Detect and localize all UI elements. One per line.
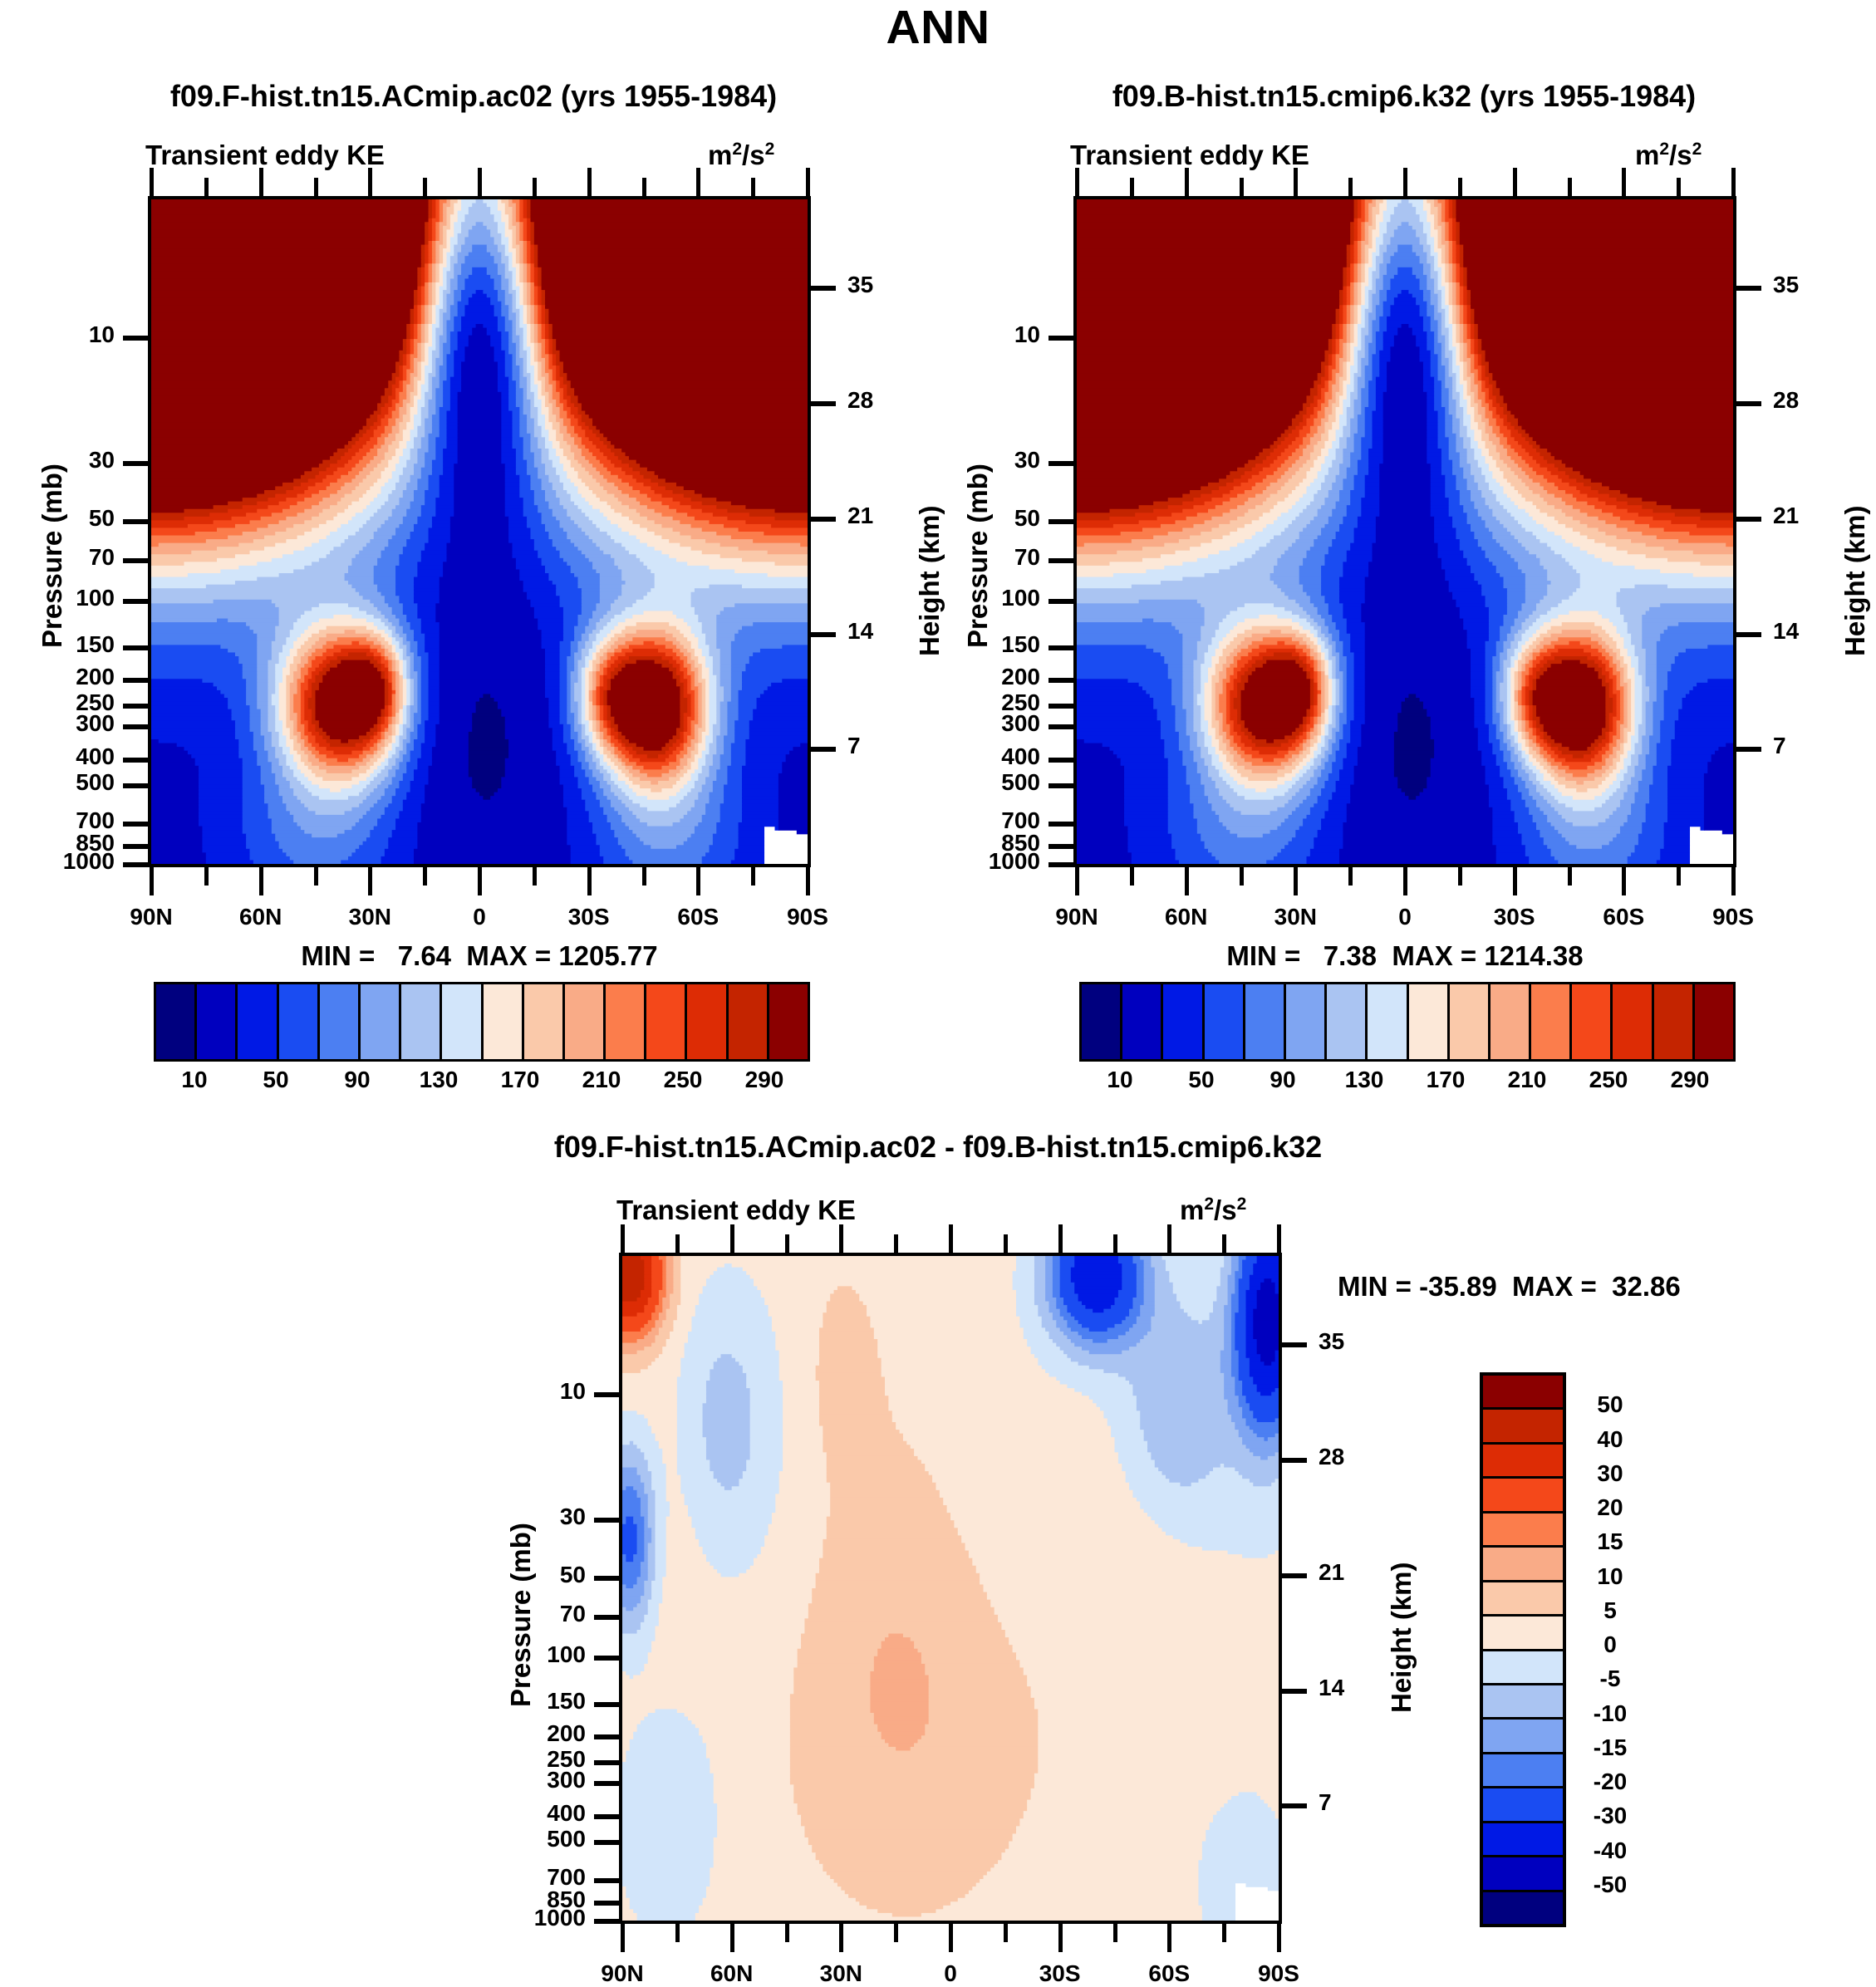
left-panel-title: f09.F-hist.tn15.ACmip.ac02 (yrs 1955-198… — [17, 79, 931, 114]
right-panel-units-label: m2/s2 — [1635, 140, 1702, 171]
y-axis-tick-label: 500 — [1001, 769, 1040, 796]
colorbar-cell — [1483, 1823, 1563, 1857]
colorbar-cell — [1082, 984, 1122, 1059]
right-panel-colorbar[interactable] — [1079, 982, 1736, 1062]
axis-tick — [1222, 1234, 1226, 1253]
axis-tick — [314, 867, 318, 886]
diff-panel-units-label: m2/s2 — [1180, 1195, 1246, 1226]
diff-panel-y2label: Height (km) — [1386, 1563, 1417, 1714]
colorbar-cell — [565, 984, 606, 1059]
units-base: m — [1180, 1195, 1204, 1225]
axis-tick — [1130, 867, 1134, 886]
axis-tick — [1048, 519, 1073, 524]
x-axis-tick-label: 30S — [1465, 904, 1564, 930]
y2-axis-tick-label: 7 — [1319, 1789, 1332, 1816]
axis-tick — [368, 168, 372, 196]
axis-tick — [1075, 867, 1079, 895]
axis-tick — [1048, 704, 1073, 709]
y-axis-tick-label: 150 — [547, 1688, 586, 1715]
axis-tick — [478, 867, 482, 895]
colorbar-cell — [606, 984, 646, 1059]
axis-tick — [123, 844, 148, 849]
colorbar-tick-label: 50 — [243, 1067, 309, 1093]
axis-tick — [1113, 1924, 1117, 1942]
right-panel-plot[interactable] — [1073, 196, 1736, 867]
y2-axis-tick-label: 21 — [1319, 1559, 1344, 1586]
axis-tick — [811, 401, 836, 406]
x-axis-tick-label: 0 — [901, 1960, 1000, 1987]
left-panel-y2label: Height (km) — [914, 506, 945, 657]
colorbar-cell — [1531, 984, 1572, 1059]
axis-tick — [533, 178, 537, 196]
colorbar-cell — [279, 984, 320, 1059]
axis-tick — [123, 678, 148, 683]
colorbar-cell — [197, 984, 238, 1059]
axis-tick — [675, 1234, 680, 1253]
axis-tick — [533, 867, 537, 886]
colorbar-tick-label: 210 — [568, 1067, 635, 1093]
axis-tick — [785, 1924, 789, 1942]
colorbar-cell — [1483, 1685, 1563, 1720]
colorbar-cell — [401, 984, 442, 1059]
axis-tick — [1513, 867, 1517, 895]
colorbar-tick-label: 90 — [1250, 1067, 1316, 1093]
x-axis-tick-label: 90S — [1683, 904, 1783, 930]
units-sup-1: 2 — [1659, 140, 1669, 159]
axis-tick — [949, 1924, 953, 1952]
colorbar-cell — [729, 984, 769, 1059]
colorbar-cell — [1695, 984, 1733, 1059]
axis-tick — [1113, 1234, 1117, 1253]
colorbar-tick-label: 40 — [1573, 1426, 1648, 1453]
x-axis-tick-label: 30N — [791, 1960, 891, 1987]
y-axis-tick-label: 100 — [1001, 585, 1040, 611]
colorbar-tick-label: 250 — [650, 1067, 716, 1093]
x-axis-tick-label: 30N — [1245, 904, 1345, 930]
diff-panel-ylabel: Pressure (mb) — [505, 1523, 537, 1707]
axis-tick — [1167, 1224, 1171, 1253]
units-sup-2: 2 — [765, 140, 775, 159]
x-axis-tick-label: 60S — [1574, 904, 1673, 930]
x-axis-tick-label: 90N — [101, 904, 201, 930]
axis-tick — [642, 867, 646, 886]
colorbar-tick-label: 10 — [1573, 1563, 1648, 1590]
colorbar-cell — [156, 984, 197, 1059]
right-panel-colorbar-labels: 105090130170210250290 — [1079, 1067, 1731, 1100]
colorbar-tick-label: 30 — [1573, 1460, 1648, 1487]
y2-axis-tick-label: 28 — [847, 387, 873, 414]
axis-tick — [1348, 178, 1353, 196]
axis-tick — [696, 168, 700, 196]
axis-tick — [1736, 401, 1761, 406]
axis-tick — [314, 178, 318, 196]
colorbar-cell — [361, 984, 401, 1059]
axis-tick — [1622, 168, 1626, 196]
axis-tick — [594, 1760, 619, 1765]
units-sup-1: 2 — [1204, 1195, 1214, 1214]
x-axis-tick-label: 0 — [1355, 904, 1455, 930]
axis-tick — [1568, 867, 1572, 886]
y2-axis-tick-label: 21 — [847, 503, 873, 529]
axis-tick — [1622, 867, 1626, 895]
axis-tick — [1240, 867, 1244, 886]
y-axis-tick-label: 1000 — [534, 1905, 586, 1931]
colorbar-tick-label: -20 — [1573, 1769, 1648, 1795]
colorbar-cell — [1483, 1754, 1563, 1788]
axis-tick — [1403, 867, 1407, 895]
axis-tick — [123, 862, 148, 867]
axis-tick — [642, 178, 646, 196]
left-panel-plot[interactable] — [148, 196, 811, 867]
axis-tick — [1240, 178, 1244, 196]
axis-tick — [594, 1702, 619, 1707]
y2-axis-tick-label: 21 — [1773, 503, 1799, 529]
axis-tick — [1677, 178, 1681, 196]
left-panel-units-label: m2/s2 — [708, 140, 774, 171]
y2-axis-tick-label: 14 — [1319, 1675, 1344, 1701]
axis-tick — [1130, 178, 1134, 196]
axis-tick — [751, 178, 755, 196]
axis-tick — [123, 558, 148, 563]
axis-tick — [1185, 867, 1189, 895]
axis-tick — [1004, 1924, 1008, 1942]
axis-tick — [1075, 168, 1079, 196]
y-axis-tick-label: 100 — [76, 585, 115, 611]
axis-tick — [811, 747, 836, 752]
axis-tick — [123, 704, 148, 709]
axis-tick — [423, 178, 427, 196]
axis-tick — [1568, 178, 1572, 196]
y-axis-tick-label: 30 — [89, 447, 115, 473]
axis-tick — [1048, 822, 1073, 827]
y-axis-tick-label: 200 — [76, 664, 115, 690]
colorbar-cell — [1483, 1720, 1563, 1754]
right-panel-ylabel: Pressure (mb) — [962, 464, 994, 648]
axis-tick — [1736, 747, 1761, 752]
units-mid: /s — [1669, 140, 1692, 170]
axis-tick — [1048, 599, 1073, 604]
axis-tick — [594, 1392, 619, 1397]
colorbar-cell — [1286, 984, 1327, 1059]
axis-tick — [1731, 867, 1736, 895]
colorbar-tick-label: -50 — [1573, 1872, 1648, 1898]
left-panel-colorbar-labels: 105090130170210250290 — [154, 1067, 805, 1100]
axis-tick — [1048, 645, 1073, 650]
colorbar-cell — [1368, 984, 1408, 1059]
y-axis-tick-label: 70 — [1014, 544, 1040, 571]
colorbar-cell — [1483, 1445, 1563, 1479]
y-axis-tick-label: 10 — [560, 1378, 586, 1405]
right-panel-variable-label: Transient eddy KE — [1070, 140, 1309, 171]
axis-tick — [123, 783, 148, 788]
axis-tick — [478, 168, 482, 196]
colorbar-cell — [1483, 1788, 1563, 1823]
axis-tick — [1048, 758, 1073, 763]
contour-field — [622, 1256, 1279, 1921]
colorbar-tick-label: 170 — [1412, 1067, 1479, 1093]
axis-tick — [1403, 168, 1407, 196]
colorbar-cell — [238, 984, 278, 1059]
x-axis-tick-label: 30S — [1010, 1960, 1110, 1987]
axis-tick — [587, 168, 592, 196]
axis-tick — [123, 599, 148, 604]
y2-axis-tick-label: 7 — [847, 733, 861, 759]
colorbar-tick-label: 50 — [1168, 1067, 1235, 1093]
colorbar-tick-label: 130 — [1331, 1067, 1397, 1093]
colorbar-cell — [646, 984, 687, 1059]
axis-tick — [123, 645, 148, 650]
x-axis-tick-label: 60N — [682, 1960, 782, 1987]
colorbar-tick-label: 210 — [1494, 1067, 1560, 1093]
x-axis-tick-label: 60S — [1119, 1960, 1219, 1987]
main-title: ANN — [0, 0, 1876, 55]
y-axis-tick-label: 400 — [547, 1800, 586, 1827]
y-axis-tick-label: 300 — [76, 710, 115, 737]
y-axis-tick-label: 50 — [89, 505, 115, 532]
axis-tick — [123, 461, 148, 466]
axis-tick — [1222, 1924, 1226, 1942]
axis-tick — [123, 519, 148, 524]
axis-tick — [806, 867, 810, 895]
axis-tick — [1282, 1573, 1307, 1578]
units-base: m — [1635, 140, 1659, 170]
axis-tick — [751, 867, 755, 886]
axis-tick — [1058, 1224, 1063, 1253]
right-panel-y2label: Height (km) — [1839, 506, 1871, 657]
axis-tick — [1294, 867, 1298, 895]
right-panel-minmax: MIN = 7.38 MAX = 1214.38 — [1073, 940, 1736, 972]
y-axis-tick-label: 300 — [547, 1767, 586, 1793]
y-axis-tick-label: 30 — [1014, 447, 1040, 473]
axis-tick — [806, 168, 810, 196]
y2-axis-tick-label: 35 — [1319, 1328, 1344, 1355]
colorbar-tick-label: 90 — [324, 1067, 390, 1093]
axis-tick — [150, 168, 154, 196]
colorbar-cell — [1450, 984, 1490, 1059]
axis-tick — [1458, 178, 1462, 196]
units-mid: /s — [1214, 1195, 1237, 1225]
colorbar-tick-label: -30 — [1573, 1803, 1648, 1829]
y-axis-tick-label: 500 — [547, 1826, 586, 1852]
colorbar-cell — [1483, 1548, 1563, 1582]
axis-tick — [587, 867, 592, 895]
left-panel-minmax: MIN = 7.64 MAX = 1205.77 — [148, 940, 811, 972]
x-axis-tick-label: 90S — [1229, 1960, 1328, 1987]
diff-panel-title: f09.F-hist.tn15.ACmip.ac02 - f09.B-hist.… — [273, 1130, 1603, 1165]
axis-tick — [675, 1924, 680, 1942]
y2-axis-tick-label: 35 — [1773, 272, 1799, 298]
axis-tick — [1048, 844, 1073, 849]
axis-tick — [811, 517, 836, 522]
y-axis-tick-label: 150 — [76, 631, 115, 658]
axis-tick — [1048, 336, 1073, 341]
colorbar-tick-label: 0 — [1573, 1631, 1648, 1658]
axis-tick — [1348, 867, 1353, 886]
units-sup-1: 2 — [732, 140, 742, 159]
axis-tick — [1731, 168, 1736, 196]
colorbar-tick-label: 20 — [1573, 1494, 1648, 1521]
y2-axis-tick-label: 7 — [1773, 733, 1786, 759]
diff-panel-minmax: MIN = -35.89 MAX = 32.86 — [1338, 1271, 1681, 1303]
colorbar-tick-label: -15 — [1573, 1734, 1648, 1761]
units-sup-2: 2 — [1692, 140, 1702, 159]
left-panel-ylabel: Pressure (mb) — [37, 464, 68, 648]
axis-tick — [204, 178, 209, 196]
x-axis-tick-label: 60N — [211, 904, 311, 930]
y2-axis-tick-label: 35 — [847, 272, 873, 298]
colorbar-tick-label: -5 — [1573, 1666, 1648, 1692]
axis-tick — [1048, 724, 1073, 729]
axis-tick — [621, 1224, 625, 1253]
colorbar-cell — [1483, 1479, 1563, 1513]
axis-tick — [1048, 862, 1073, 867]
y-axis-tick-label: 30 — [560, 1504, 586, 1530]
colorbar-cell — [1483, 1892, 1563, 1924]
units-base: m — [708, 140, 732, 170]
y2-axis-tick-label: 14 — [1773, 618, 1799, 645]
axis-tick — [1048, 783, 1073, 788]
axis-tick — [594, 1656, 619, 1661]
axis-tick — [594, 1576, 619, 1581]
colorbar-tick-label: 290 — [1657, 1067, 1723, 1093]
axis-tick — [1282, 1342, 1307, 1347]
contour-field — [1077, 199, 1733, 864]
axis-tick — [594, 1919, 619, 1924]
axis-tick — [696, 867, 700, 895]
colorbar-cell — [524, 984, 565, 1059]
y-axis-tick-label: 10 — [89, 321, 115, 348]
x-axis-tick-label: 90S — [758, 904, 857, 930]
y-axis-tick-label: 500 — [76, 769, 115, 796]
y2-axis-tick-label: 28 — [1319, 1444, 1344, 1470]
axis-tick — [1048, 678, 1073, 683]
axis-tick — [839, 1224, 843, 1253]
y-axis-tick-label: 70 — [560, 1601, 586, 1627]
colorbar-cell — [1483, 1514, 1563, 1548]
axis-tick — [423, 867, 427, 886]
colorbar-cell — [1483, 1651, 1563, 1685]
y-axis-tick-label: 400 — [76, 743, 115, 770]
axis-tick — [594, 1840, 619, 1845]
axis-tick — [785, 1234, 789, 1253]
axis-tick — [1185, 168, 1189, 196]
diff-panel-plot[interactable] — [619, 1253, 1282, 1924]
colorbar-cell — [1572, 984, 1613, 1059]
x-axis-tick-label: 90N — [572, 1960, 672, 1987]
axis-tick — [123, 724, 148, 729]
axis-tick — [811, 286, 836, 291]
axis-tick — [204, 867, 209, 886]
y2-axis-tick-label: 14 — [847, 618, 873, 645]
axis-tick — [594, 1615, 619, 1620]
axis-tick — [1277, 1224, 1281, 1253]
colorbar-tick-label: 290 — [731, 1067, 798, 1093]
colorbar-tick-label: 250 — [1575, 1067, 1642, 1093]
y-axis-tick-label: 400 — [1001, 743, 1040, 770]
axis-tick — [123, 822, 148, 827]
colorbar-cell — [484, 984, 524, 1059]
axis-tick — [811, 632, 836, 637]
y-axis-tick-label: 200 — [547, 1720, 586, 1747]
colorbar-cell — [1490, 984, 1531, 1059]
y-axis-tick-label: 150 — [1001, 631, 1040, 658]
colorbar-cell — [687, 984, 728, 1059]
right-panel-title: f09.B-hist.tn15.cmip6.k32 (yrs 1955-1984… — [947, 79, 1861, 114]
axis-tick — [1048, 461, 1073, 466]
axis-tick — [949, 1224, 953, 1253]
axis-tick — [594, 1734, 619, 1739]
x-axis-tick-label: 30N — [320, 904, 420, 930]
colorbar-cell — [1483, 1857, 1563, 1891]
y-axis-tick-label: 300 — [1001, 710, 1040, 737]
axis-tick — [1294, 168, 1298, 196]
diff-panel-colorbar[interactable] — [1480, 1372, 1566, 1927]
colorbar-cell — [1409, 984, 1450, 1059]
x-axis-tick-label: 60N — [1137, 904, 1236, 930]
axis-tick — [594, 1901, 619, 1906]
colorbar-cell — [320, 984, 361, 1059]
axis-tick — [730, 1924, 734, 1952]
left-panel-colorbar[interactable] — [154, 982, 810, 1062]
axis-tick — [1282, 1803, 1307, 1808]
colorbar-cell — [1163, 984, 1204, 1059]
colorbar-tick-label: 10 — [161, 1067, 228, 1093]
colorbar-cell — [1483, 1617, 1563, 1651]
x-axis-tick-label: 30S — [539, 904, 639, 930]
units-mid: /s — [742, 140, 765, 170]
y-axis-tick-label: 200 — [1001, 664, 1040, 690]
y-axis-tick-label: 50 — [1014, 505, 1040, 532]
colorbar-tick-label: 50 — [1573, 1391, 1648, 1418]
axis-tick — [1458, 867, 1462, 886]
y-axis-tick-label: 100 — [547, 1641, 586, 1668]
axis-tick — [1004, 1234, 1008, 1253]
axis-tick — [621, 1924, 625, 1952]
axis-tick — [1058, 1924, 1063, 1952]
colorbar-cell — [1483, 1376, 1563, 1410]
diff-panel-variable-label: Transient eddy KE — [616, 1195, 856, 1226]
axis-tick — [594, 1878, 619, 1883]
axis-tick — [594, 1518, 619, 1523]
colorbar-cell — [1654, 984, 1695, 1059]
units-sup-2: 2 — [1237, 1195, 1247, 1214]
axis-tick — [1736, 286, 1761, 291]
axis-tick — [1048, 558, 1073, 563]
colorbar-cell — [1245, 984, 1286, 1059]
axis-tick — [1677, 867, 1681, 886]
y-axis-tick-label: 50 — [560, 1562, 586, 1588]
axis-tick — [259, 867, 263, 895]
colorbar-tick-label: 5 — [1573, 1597, 1648, 1624]
axis-tick — [894, 1924, 898, 1942]
y-axis-tick-label: 70 — [89, 544, 115, 571]
x-axis-tick-label: 0 — [430, 904, 529, 930]
colorbar-cell — [1613, 984, 1653, 1059]
contour-field — [151, 199, 808, 864]
axis-tick — [894, 1234, 898, 1253]
colorbar-cell — [442, 984, 483, 1059]
x-axis-tick-label: 60S — [648, 904, 748, 930]
colorbar-cell — [1483, 1410, 1563, 1444]
colorbar-tick-label: 130 — [405, 1067, 472, 1093]
axis-tick — [730, 1224, 734, 1253]
y2-axis-tick-label: 28 — [1773, 387, 1799, 414]
colorbar-cell — [1327, 984, 1368, 1059]
axis-tick — [1282, 1689, 1307, 1694]
axis-tick — [259, 168, 263, 196]
x-axis-tick-label: 90N — [1027, 904, 1127, 930]
colorbar-tick-label: 170 — [487, 1067, 553, 1093]
